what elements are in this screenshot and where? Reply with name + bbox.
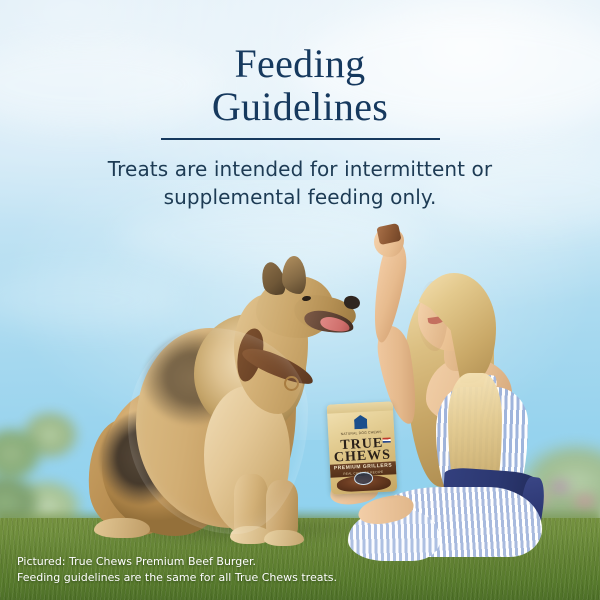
- promo-image: NATURAL DOG CHEWS TRUE CHEWS PREMIUM GRI…: [0, 0, 600, 600]
- person-woman: [352, 225, 542, 545]
- subtitle: Treats are intended for intermittent or …: [46, 155, 554, 211]
- page-title-line-2: Guidelines: [0, 85, 600, 128]
- page-title-line-1: Feeding: [0, 42, 600, 85]
- dog-rear-paw: [94, 518, 150, 538]
- usa-flag-icon: [383, 437, 391, 442]
- footer-caption: Pictured: True Chews Premium Beef Burger…: [17, 554, 337, 586]
- caption-line-1: Pictured: True Chews Premium Beef Burger…: [17, 554, 337, 570]
- page-title: Feeding Guidelines: [0, 42, 600, 128]
- product-bag-true-chews: NATURAL DOG CHEWS TRUE CHEWS PREMIUM GRI…: [327, 401, 398, 494]
- caption-line-2: Feeding guidelines are the same for all …: [17, 570, 337, 586]
- dog-paw-near: [264, 530, 304, 546]
- title-divider: [161, 138, 440, 140]
- dog-german-shepherd: [88, 268, 338, 540]
- blue-buffalo-shield-icon: [354, 415, 368, 430]
- subtitle-line-2: supplemental feeding only.: [46, 183, 554, 211]
- subtitle-line-1: Treats are intended for intermittent or: [46, 155, 554, 183]
